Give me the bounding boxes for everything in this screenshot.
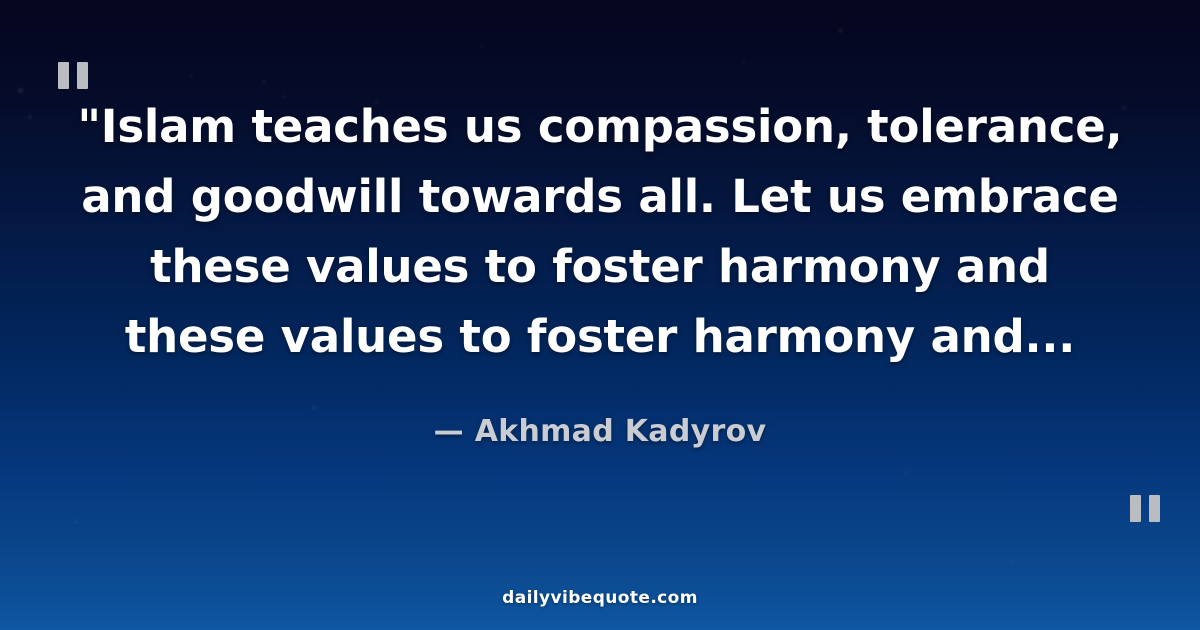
quote-bar <box>1149 495 1160 522</box>
quote-bar <box>1130 495 1141 522</box>
quote-text: "Islam teaches us compassion, tolerance,… <box>34 92 1166 372</box>
quote-mark-bottom-right-icon <box>1130 495 1160 522</box>
quote-attribution: — Akhmad Kadyrov <box>434 414 767 449</box>
quote-content: "Islam teaches us compassion, tolerance,… <box>0 0 1200 540</box>
particle-dot <box>1010 560 1013 563</box>
site-watermark: dailyvibequote.com <box>0 588 1200 608</box>
quote-card: "Islam teaches us compassion, tolerance,… <box>0 0 1200 630</box>
